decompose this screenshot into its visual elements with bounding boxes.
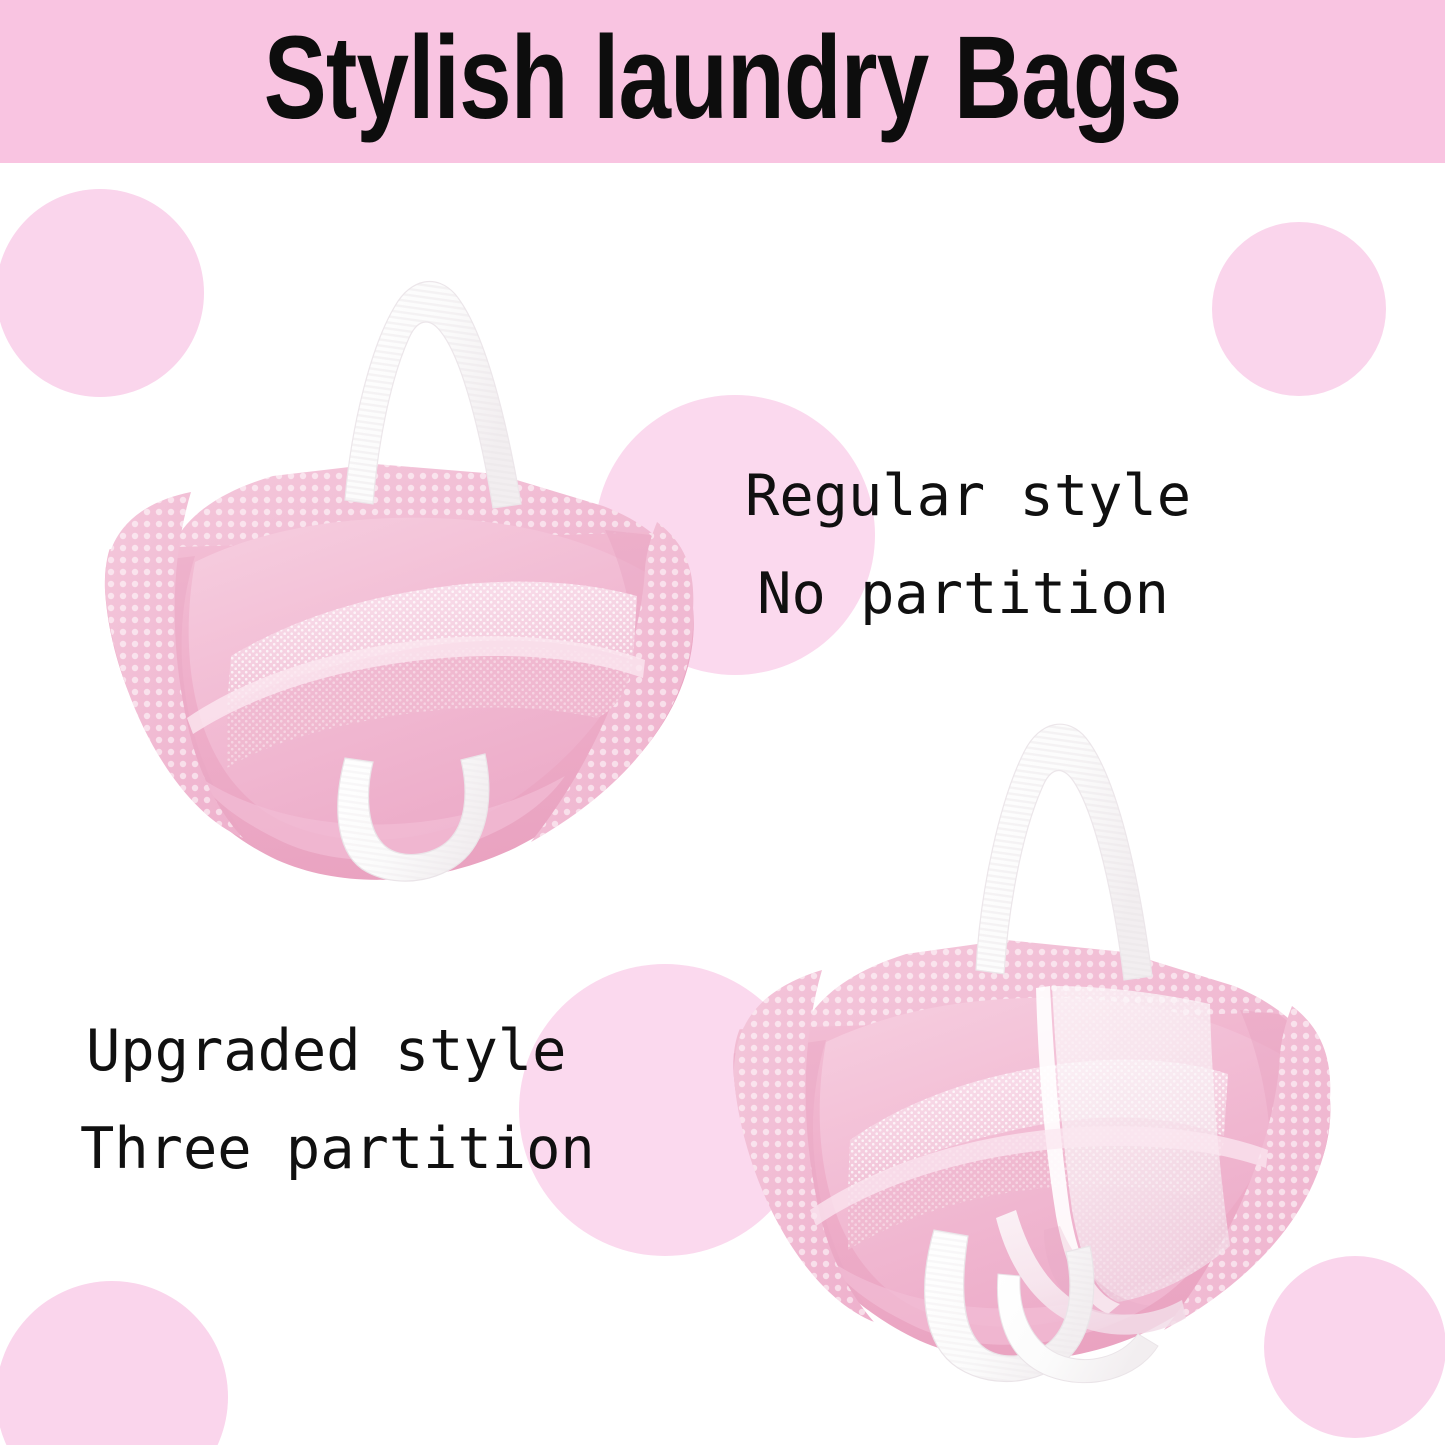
page-title: Stylish laundry Bags [264, 19, 1182, 137]
caption-regular-line-2: No partition [735, 545, 1191, 643]
header-banner: Stylish laundry Bags [0, 0, 1445, 163]
caption-upgraded-style: Upgraded style Three partition [80, 1002, 595, 1198]
caption-regular-line-1: Regular style [745, 447, 1191, 545]
decor-dot-bottom-left [0, 1281, 228, 1445]
caption-regular-style: Regular style No partition [735, 447, 1191, 643]
product-infographic: Stylish laundry Bags [0, 0, 1445, 1445]
bag-top-handle-upgraded [976, 724, 1152, 980]
product-image-upgraded-bag [700, 670, 1360, 1390]
product-image-regular-bag [45, 170, 735, 900]
caption-upgraded-line-2: Three partition [80, 1100, 595, 1198]
decor-dot-top-right [1212, 222, 1386, 396]
caption-upgraded-line-1: Upgraded style [86, 1002, 595, 1100]
